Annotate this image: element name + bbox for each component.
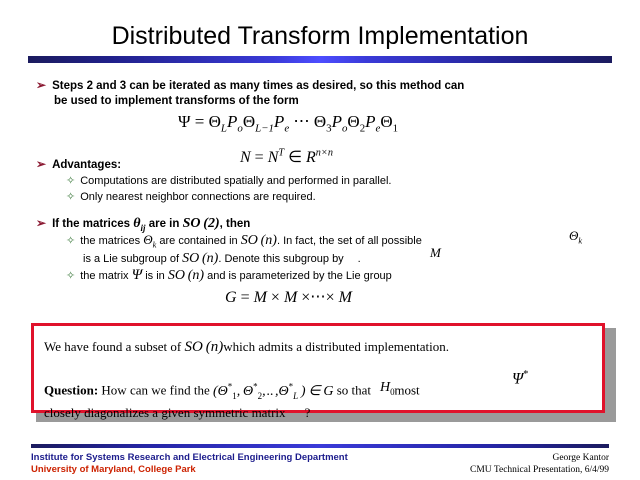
subbullet-neighbors-label: Only nearest neighbor connections are re… bbox=[80, 191, 315, 203]
callout-statement: We have found a subset of SO (n)which ad… bbox=[44, 338, 449, 356]
bullet-steps: ➢Steps 2 and 3 can be iterated as many t… bbox=[36, 78, 616, 109]
symbol-son: SO (n) bbox=[241, 233, 277, 248]
footer-affiliation-line2: University of Maryland, College Park bbox=[31, 464, 348, 476]
equation-normal-matrix: N = NT ∈ Rn×n bbox=[240, 147, 333, 167]
footer-presentation-info: CMU Technical Presentation, 6/4/99 bbox=[470, 464, 609, 476]
callout-statement-b: which admits a distributed implementatio… bbox=[223, 339, 449, 354]
footer-affiliation-line1: Institute for Systems Research and Elect… bbox=[31, 452, 348, 464]
callout-question-e: ? bbox=[305, 405, 311, 420]
symbol-son: SO (n) bbox=[168, 268, 204, 283]
subbullet-theta-a: the matrices bbox=[80, 235, 140, 247]
callout-question-c: most bbox=[394, 383, 419, 398]
symbol-so2: SO (2) bbox=[183, 216, 220, 231]
subbullet-neighbors: ✧Only nearest neighbor connections are r… bbox=[66, 190, 316, 205]
subbullet-lie-c: . bbox=[358, 253, 361, 265]
callout-question-d: closely diagonalizes a given symmetric m… bbox=[44, 405, 286, 420]
slide: Distributed Transform Implementation ➢St… bbox=[0, 0, 640, 480]
subbullet-computations: ✧Computations are distributed spatially … bbox=[66, 174, 391, 189]
symbol-psi: Ψ bbox=[132, 267, 143, 283]
bullet-so2-prefix: If the matrices bbox=[52, 218, 130, 230]
bullet-arrow-icon: ➢ bbox=[36, 216, 46, 231]
subbullet-theta-c: . In fact, the set of all possible bbox=[277, 235, 422, 247]
subbullet-theta-b: are contained in bbox=[159, 235, 237, 247]
subbullet-psi-b: is in bbox=[145, 270, 165, 282]
equation-psi: Ψ = ΘLPoΘL−1Pe ⋅⋅⋅ Θ3PoΘ2PeΘ1 bbox=[178, 112, 398, 134]
callout-question-a: How can we find the bbox=[101, 383, 209, 398]
callout-question: Question: How can we find the (Θ*1, Θ*2,… bbox=[44, 378, 592, 421]
callout-question-label: Question: bbox=[44, 383, 98, 398]
subbullet-lie-a: is a Lie subgroup of bbox=[83, 253, 179, 265]
diamond-bullet-icon: ✧ bbox=[66, 190, 75, 205]
subbullet-psi-a: the matrix bbox=[80, 270, 128, 282]
diamond-bullet-icon: ✧ bbox=[66, 174, 75, 189]
callout-question-b: so that bbox=[337, 383, 371, 398]
symbol-subgroup-m: M bbox=[430, 245, 441, 261]
symbol-theta-k: Θk bbox=[143, 232, 156, 247]
bullet-steps-line1: Steps 2 and 3 can be iterated as many ti… bbox=[52, 80, 464, 92]
callout-question-line2: closely diagonalizes a given symmetric m… bbox=[44, 404, 592, 421]
bullet-arrow-icon: ➢ bbox=[36, 157, 46, 172]
symbol-son: SO (n) bbox=[182, 251, 218, 266]
equation-lie-group: G = M × M ×⋅⋅⋅× M bbox=[225, 287, 352, 307]
subbullet-lie-b: . Denote this subgroup by bbox=[218, 253, 343, 265]
symbol-h0: H0 bbox=[380, 380, 395, 397]
diamond-bullet-icon: ✧ bbox=[66, 234, 75, 249]
bullet-arrow-icon: ➢ bbox=[36, 78, 46, 93]
bullet-so2-tail: , then bbox=[220, 218, 251, 230]
bullet-so2-suffix: are in bbox=[149, 218, 180, 230]
symbol-theta-k-trailing: Θk bbox=[569, 228, 582, 246]
bullet-advantages-label: Advantages: bbox=[52, 159, 121, 171]
symbol-son: SO (n) bbox=[184, 339, 223, 355]
symbol-theta-tuple: (Θ*1, Θ*2, .. ,Θ*L ) ∈ G bbox=[213, 384, 333, 399]
subbullet-lie-subgroup: is a Lie subgroup of SO (n). Denote this… bbox=[83, 250, 361, 267]
footer-affiliation: Institute for Systems Research and Elect… bbox=[31, 452, 348, 476]
diamond-bullet-icon: ✧ bbox=[66, 269, 75, 284]
footer-divider bbox=[31, 444, 609, 448]
symbol-psi-star: Ψ* bbox=[512, 369, 528, 388]
symbol-theta-ij: θij bbox=[133, 216, 145, 231]
footer-author: George Kantor CMU Technical Presentation… bbox=[470, 452, 609, 476]
subbullet-psi-c: and is parameterized by the Lie group bbox=[207, 270, 392, 282]
callout-statement-a: We have found a subset of bbox=[44, 339, 181, 354]
subbullet-matrix-psi: ✧the matrix Ψ is in SO (n) and is parame… bbox=[66, 268, 392, 284]
bullet-advantages: ➢Advantages: bbox=[36, 157, 121, 173]
subbullet-computations-label: Computations are distributed spatially a… bbox=[80, 175, 391, 187]
bullet-steps-line2: be used to implement transforms of the f… bbox=[54, 94, 616, 109]
footer-author-name: George Kantor bbox=[470, 452, 609, 464]
